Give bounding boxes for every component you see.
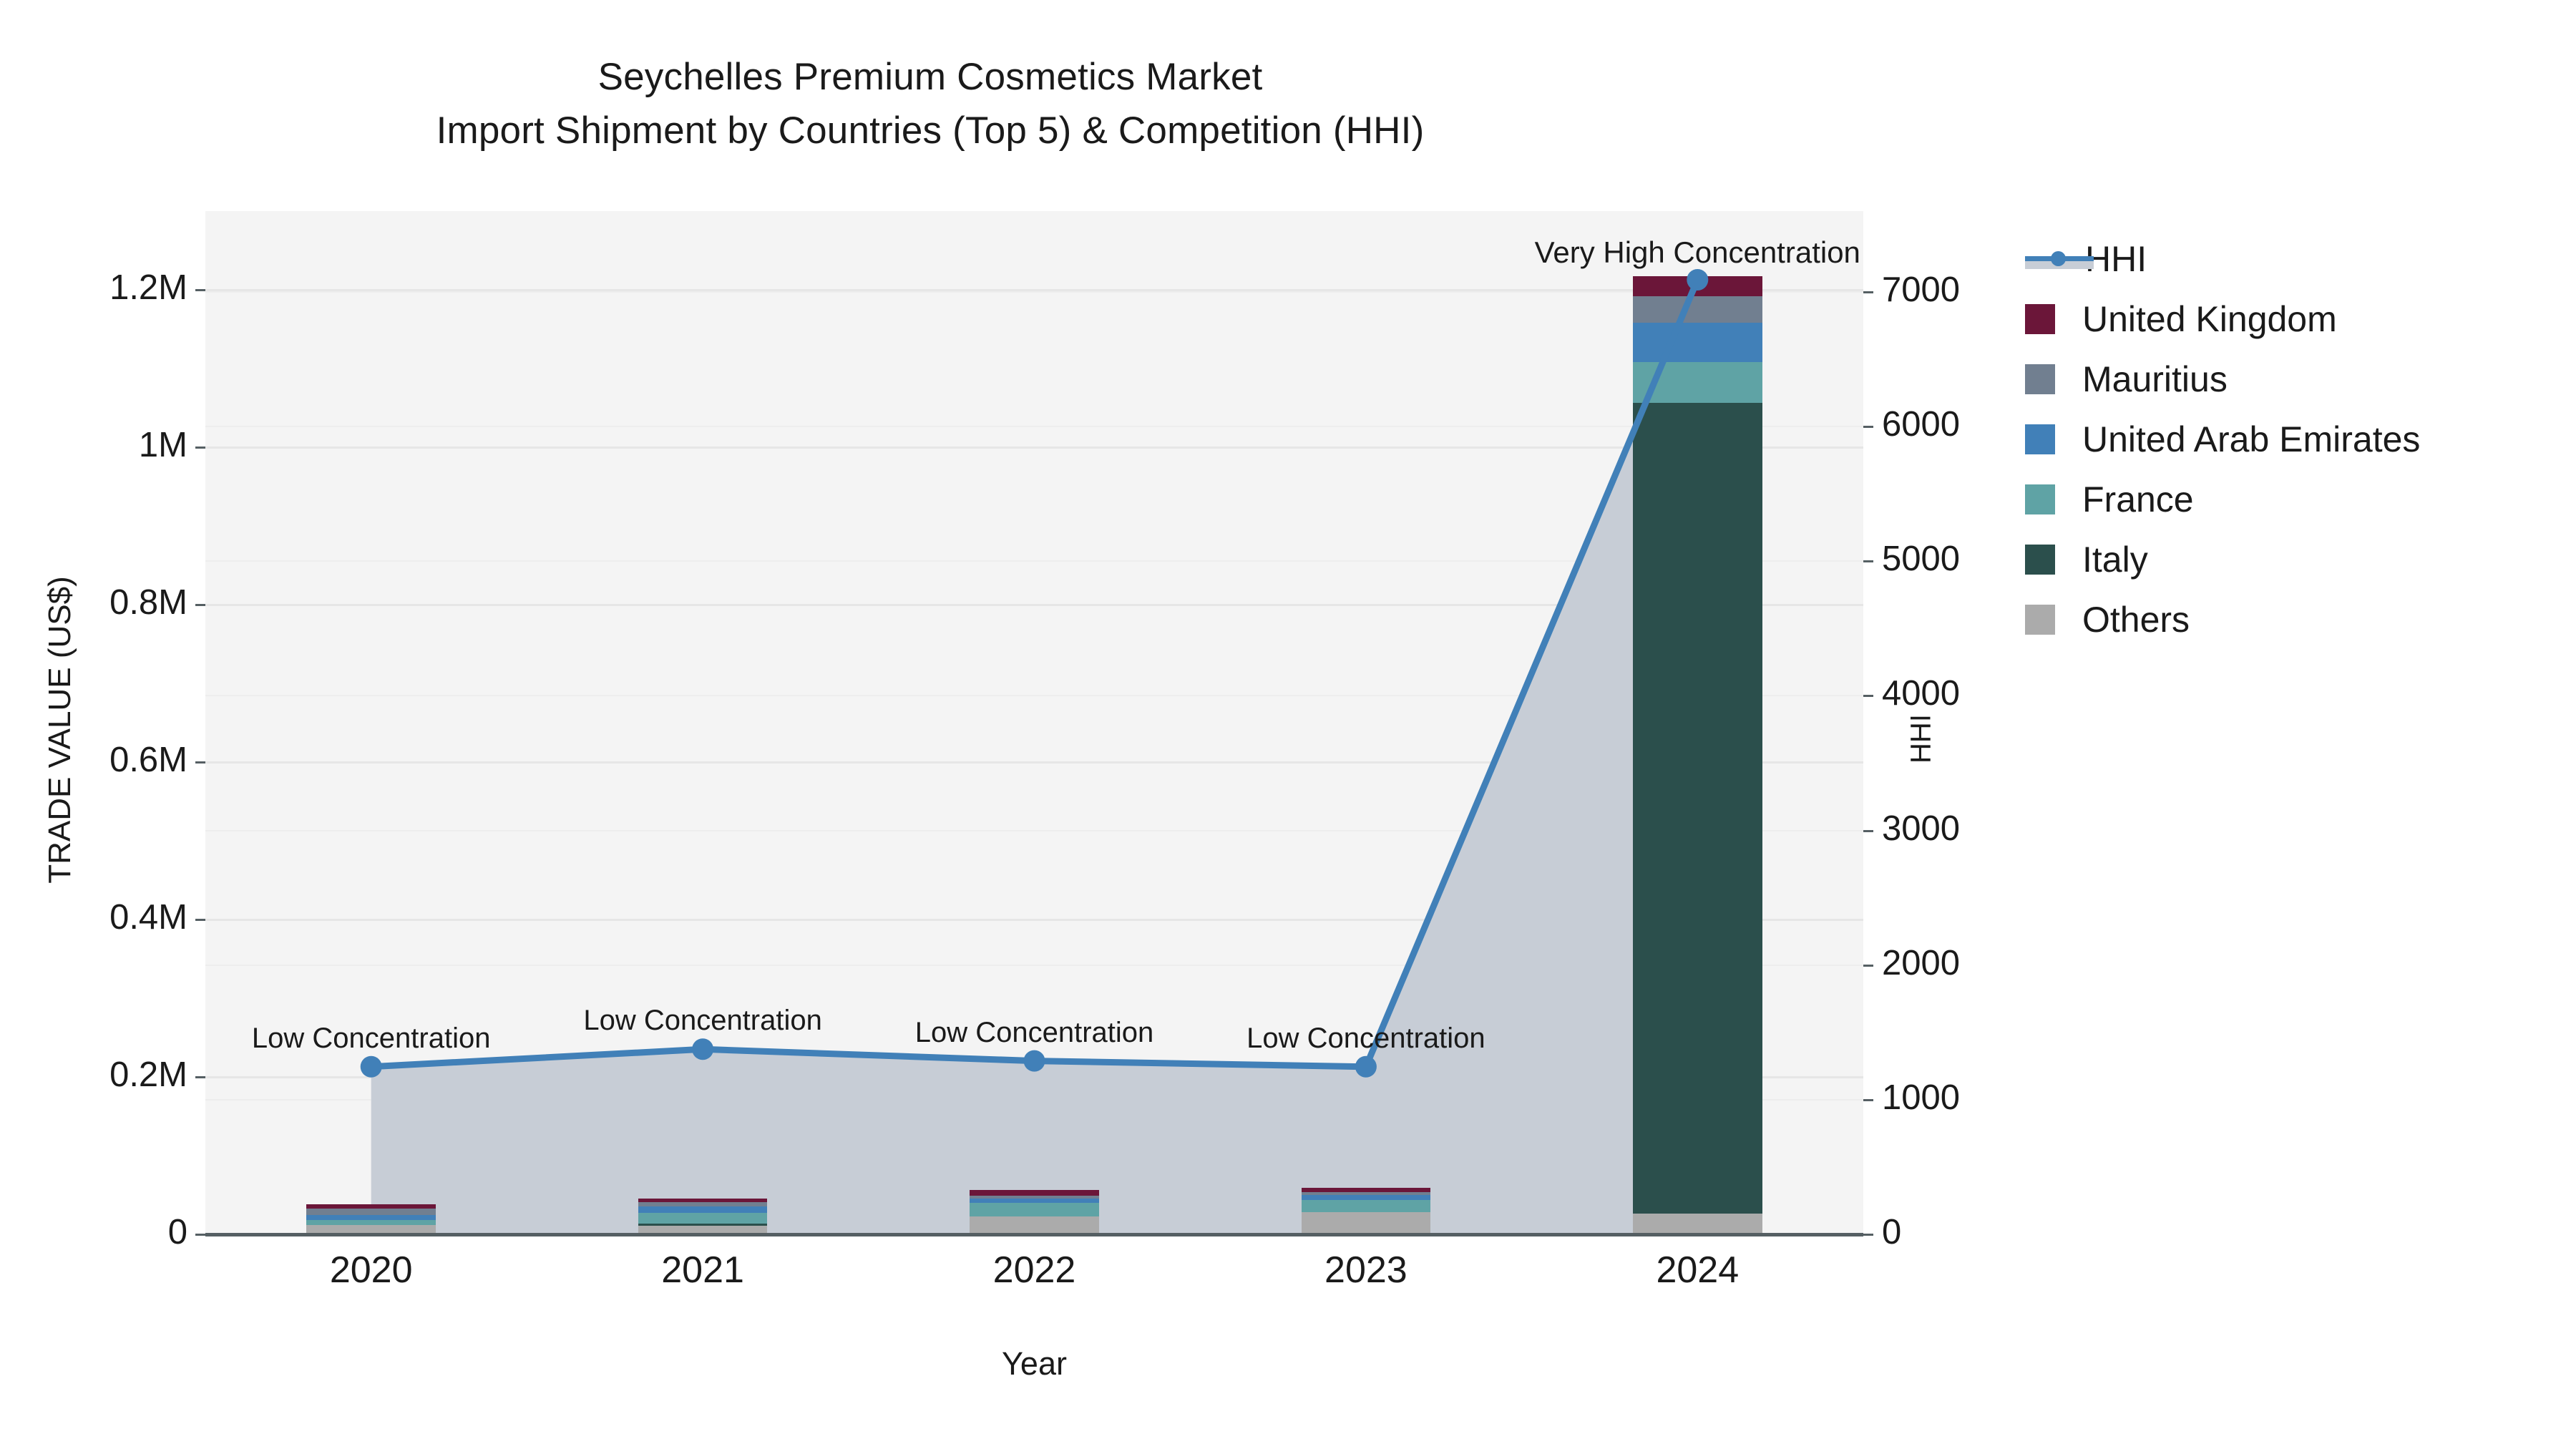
- bar-segment[interactable]: [1633, 403, 1762, 1214]
- legend-item-label: Italy: [2082, 542, 2148, 577]
- legend-item-label: Others: [2082, 602, 2190, 638]
- bar-segment[interactable]: [1633, 323, 1762, 362]
- y-tick-label-left: 1M: [0, 425, 187, 465]
- bar-segment[interactable]: [638, 1224, 768, 1226]
- legend-color-swatch: [2025, 545, 2055, 575]
- plot-area: [205, 211, 1863, 1234]
- hhi-area-fill: [371, 280, 1698, 1234]
- bar-segment[interactable]: [1633, 296, 1762, 323]
- y-tick-label-left: 0.6M: [0, 740, 187, 780]
- y-tick-mark-left: [195, 447, 205, 449]
- x-axis-label: Year: [205, 1345, 1863, 1382]
- hhi-overlay: [205, 211, 1863, 1234]
- legend-item[interactable]: HHI: [2025, 229, 2555, 289]
- bar-segment[interactable]: [638, 1206, 768, 1213]
- y-tick-label-right: 4000: [1882, 673, 1960, 713]
- y-tick-label-right: 3000: [1882, 809, 1960, 849]
- legend-item-label: United Arab Emirates: [2082, 421, 2420, 457]
- y-tick-mark-left: [195, 1076, 205, 1078]
- x-tick-label: 2022: [993, 1249, 1076, 1292]
- bar-segment[interactable]: [638, 1213, 768, 1224]
- bar-segment[interactable]: [1302, 1192, 1431, 1195]
- bar-segment[interactable]: [970, 1190, 1099, 1195]
- y-tick-mark-left: [195, 604, 205, 606]
- legend-item[interactable]: United Arab Emirates: [2025, 409, 2555, 469]
- y-tick-label-left: 0: [0, 1212, 187, 1252]
- chart-subtitle: Import Shipment by Countries (Top 5) & C…: [0, 104, 1860, 157]
- y-tick-mark-left: [195, 289, 205, 291]
- legend-item[interactable]: Others: [2025, 590, 2555, 650]
- x-axis-line: [205, 1233, 1863, 1236]
- bar-segment[interactable]: [306, 1215, 436, 1220]
- legend: HHIUnited KingdomMauritiusUnited Arab Em…: [2025, 229, 2555, 650]
- bar-segment[interactable]: [1633, 1214, 1762, 1234]
- chart-title: Seychelles Premium Cosmetics Market: [0, 50, 1860, 104]
- bar-segment[interactable]: [1302, 1200, 1431, 1213]
- y-tick-mark-right: [1863, 1099, 1873, 1101]
- bar-segment[interactable]: [1302, 1195, 1431, 1200]
- bar-segment[interactable]: [1302, 1212, 1431, 1234]
- y-tick-mark-left: [195, 761, 205, 763]
- hhi-annotation: Low Concentration: [252, 1023, 491, 1055]
- bar-segment[interactable]: [970, 1199, 1099, 1203]
- chart-title-block: Seychelles Premium Cosmetics Market Impo…: [0, 50, 1860, 158]
- y-tick-mark-right: [1863, 965, 1873, 967]
- legend-color-swatch: [2025, 364, 2055, 394]
- bar-segment[interactable]: [1302, 1188, 1431, 1192]
- bar-segment[interactable]: [1633, 276, 1762, 296]
- legend-color-swatch: [2025, 304, 2055, 334]
- bar-segment[interactable]: [970, 1203, 1099, 1217]
- y-tick-mark-left: [195, 919, 205, 921]
- legend-item[interactable]: Italy: [2025, 530, 2555, 590]
- bar-segment[interactable]: [306, 1220, 436, 1225]
- y-tick-label-left: 0.8M: [0, 582, 187, 623]
- y-tick-label-right: 7000: [1882, 270, 1960, 310]
- hhi-annotation: Low Concentration: [915, 1017, 1154, 1049]
- legend-color-swatch: [2025, 605, 2055, 635]
- y-tick-mark-right: [1863, 830, 1873, 832]
- y-tick-label-right: 1000: [1882, 1078, 1960, 1118]
- legend-item-label: Mauritius: [2082, 361, 2228, 397]
- legend-color-swatch: [2025, 424, 2055, 454]
- y-tick-label-right: 0: [1882, 1212, 1901, 1252]
- y-tick-mark-right: [1863, 426, 1873, 428]
- legend-line-icon: [2025, 244, 2094, 274]
- legend-item-label: HHI: [2085, 241, 2147, 277]
- bar-segment[interactable]: [306, 1204, 436, 1209]
- legend-item[interactable]: United Kingdom: [2025, 289, 2555, 349]
- y-tick-label-left: 0.4M: [0, 897, 187, 937]
- legend-color-swatch: [2025, 484, 2055, 514]
- y-tick-label-left: 0.2M: [0, 1055, 187, 1095]
- legend-item-label: United Kingdom: [2082, 301, 2337, 337]
- y-tick-label-left: 1.2M: [0, 268, 187, 308]
- bar-segment[interactable]: [970, 1216, 1099, 1234]
- y-tick-mark-right: [1863, 1234, 1873, 1236]
- legend-item[interactable]: Mauritius: [2025, 349, 2555, 409]
- y-tick-mark-right: [1863, 695, 1873, 697]
- bar-segment[interactable]: [970, 1196, 1099, 1199]
- bar-segment[interactable]: [638, 1199, 768, 1203]
- y-tick-label-right: 6000: [1882, 404, 1960, 444]
- y-tick-label-right: 2000: [1882, 943, 1960, 983]
- y-tick-label-right: 5000: [1882, 539, 1960, 579]
- bar-segment[interactable]: [306, 1209, 436, 1215]
- y-tick-mark-left: [195, 1234, 205, 1236]
- hhi-annotation: Very High Concentration: [1535, 235, 1860, 270]
- hhi-annotation: Low Concentration: [583, 1005, 822, 1037]
- y-tick-mark-right: [1863, 560, 1873, 562]
- chart-canvas: Seychelles Premium Cosmetics Market Impo…: [0, 0, 2576, 1449]
- legend-item[interactable]: France: [2025, 469, 2555, 530]
- x-tick-label: 2020: [330, 1249, 413, 1292]
- legend-item-label: France: [2082, 482, 2194, 517]
- x-tick-label: 2023: [1324, 1249, 1407, 1292]
- hhi-annotation: Low Concentration: [1246, 1023, 1485, 1055]
- legend-marker-dot: [2051, 251, 2066, 266]
- x-tick-label: 2021: [661, 1249, 744, 1292]
- bar-segment[interactable]: [638, 1202, 768, 1206]
- x-tick-label: 2024: [1656, 1249, 1739, 1292]
- y-tick-mark-right: [1863, 291, 1873, 293]
- bar-segment[interactable]: [1633, 362, 1762, 403]
